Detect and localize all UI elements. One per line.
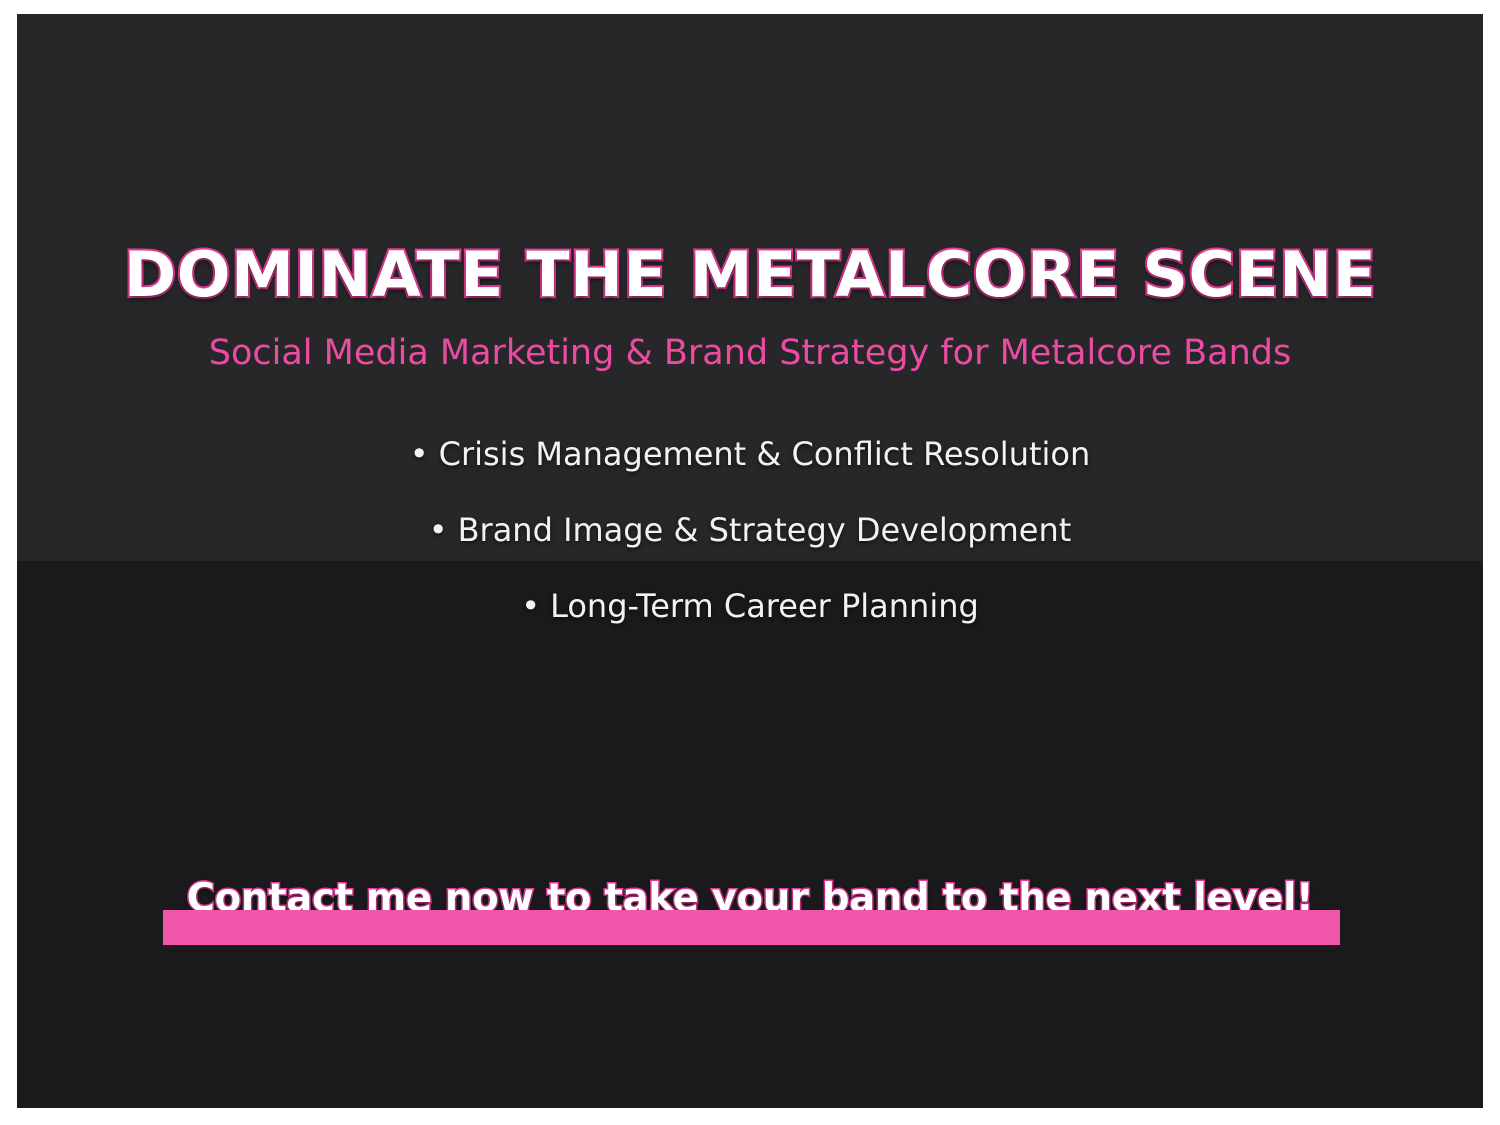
bullet-marker-icon: •: [521, 590, 540, 622]
slide-title: DOMINATE THE METALCORE SCENE: [17, 242, 1483, 307]
bullet-list: •Crisis Management & Conflict Resolution…: [17, 438, 1483, 666]
call-to-action-accent-bar: [163, 910, 1340, 945]
bullet-text: Long-Term Career Planning: [550, 587, 979, 625]
bullet-text: Brand Image & Strategy Development: [458, 511, 1072, 549]
list-item: •Crisis Management & Conflict Resolution: [17, 438, 1483, 514]
presentation-slide: DOMINATE THE METALCORE SCENE Social Medi…: [17, 14, 1483, 1108]
slide-subtitle: Social Media Marketing & Brand Strategy …: [17, 332, 1483, 374]
list-item: •Long-Term Career Planning: [17, 590, 1483, 666]
slide-root: DOMINATE THE METALCORE SCENE Social Medi…: [0, 0, 1500, 1125]
bullet-marker-icon: •: [410, 438, 429, 470]
bullet-text: Crisis Management & Conflict Resolution: [439, 435, 1091, 473]
bullet-marker-icon: •: [429, 514, 448, 546]
list-item: •Brand Image & Strategy Development: [17, 514, 1483, 590]
slide-content: DOMINATE THE METALCORE SCENE Social Medi…: [17, 14, 1483, 1108]
